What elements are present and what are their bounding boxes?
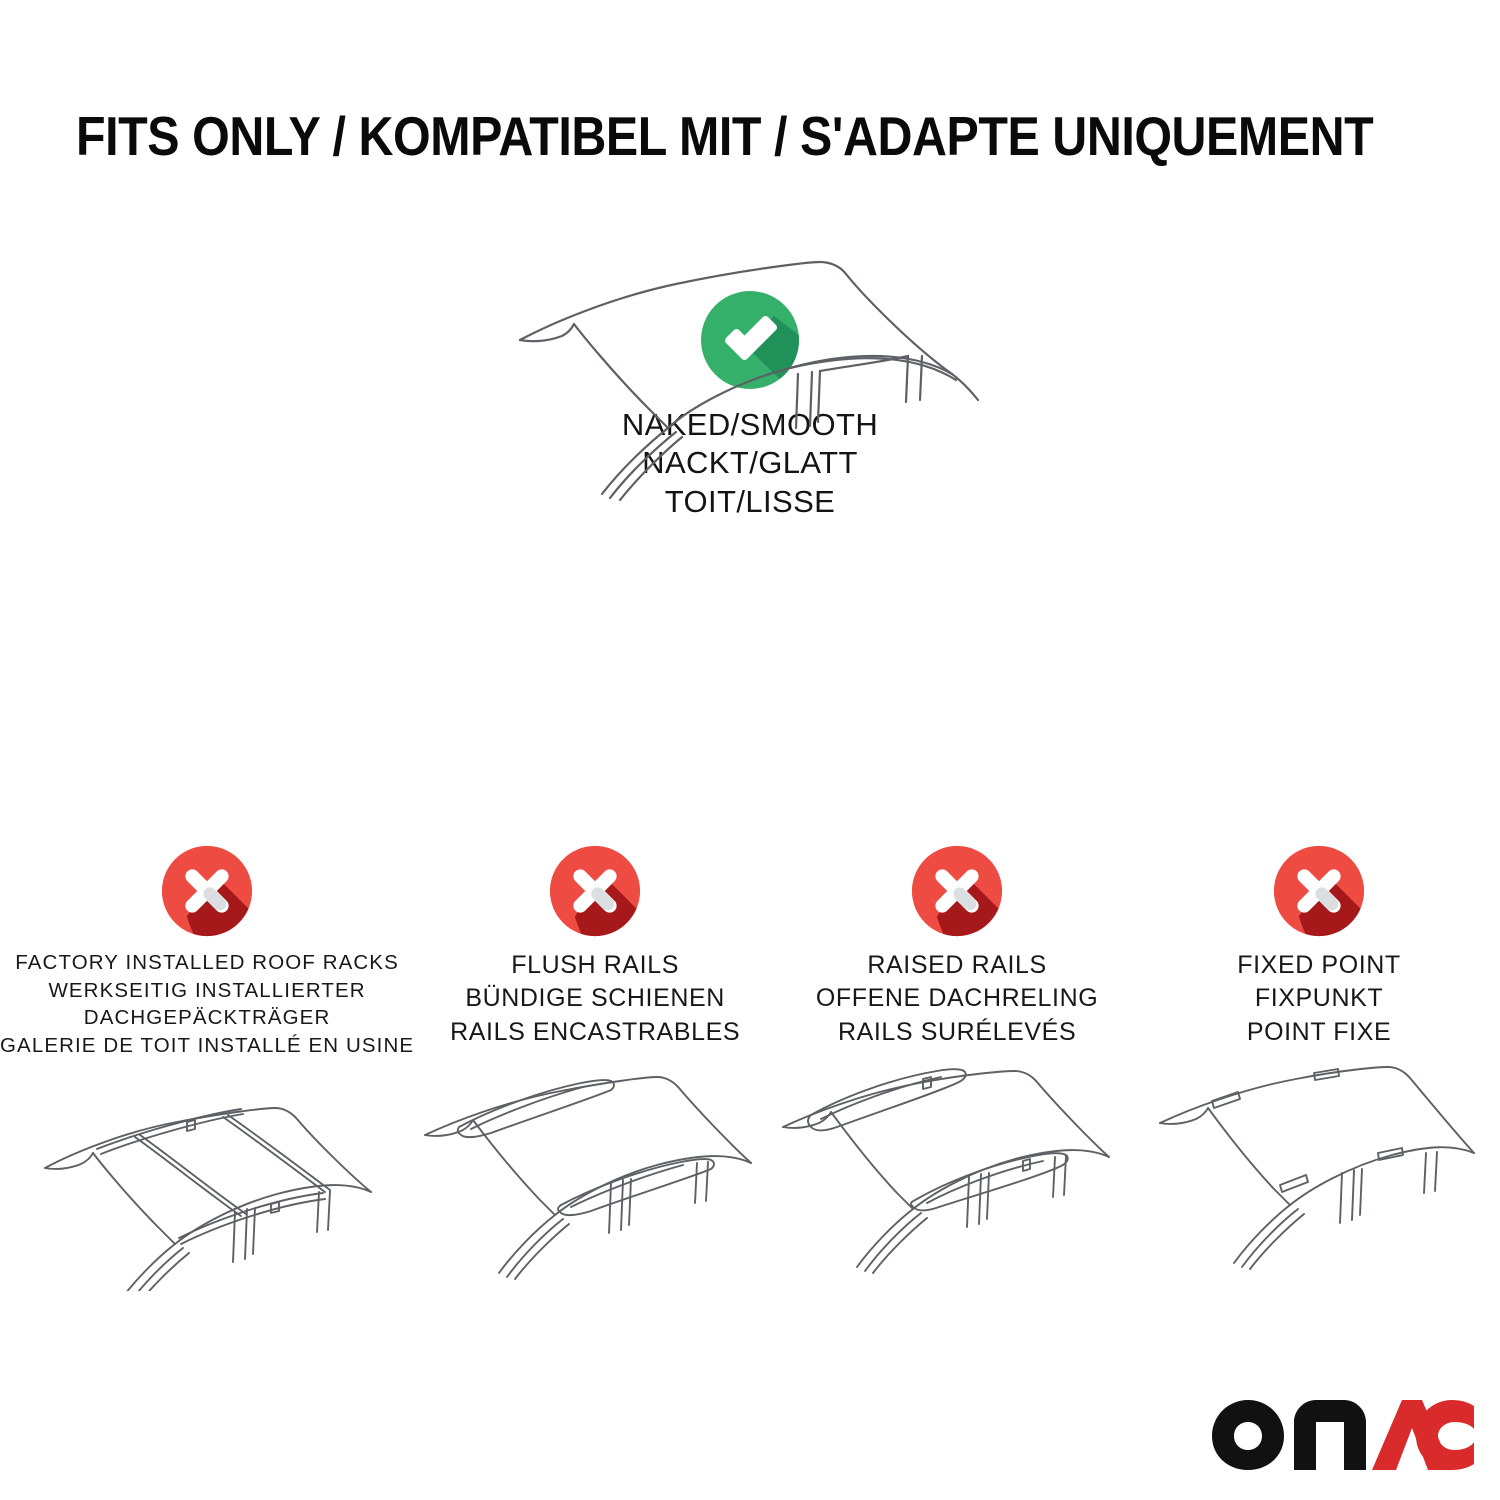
car-roof-fixed-point-illustration [1138,1065,1500,1295]
page-title: FITS ONLY / KOMPATIBEL MIT / S'ADAPTE UN… [76,108,1373,166]
incompatible-section: FACTORY INSTALLED ROOF RACKS WERKSEITIG … [0,845,1500,1306]
x-circle-icon [161,845,253,937]
logo-letter-m [1294,1400,1366,1470]
incompatible-labels: FIXED POINT FIXPUNKT POINT FIXE [1138,949,1500,1049]
omac-logo [1210,1398,1476,1472]
label-en: FLUSH RAILS [414,949,776,982]
label-de: BÜNDIGE SCHIENEN [414,982,776,1015]
car-roof-raised-rails-illustration [776,1065,1138,1295]
label-en: FACTORY INSTALLED ROOF RACKS [0,949,414,977]
car-roof-flush-rails-illustration [414,1065,776,1295]
incompatible-labels: FACTORY INSTALLED ROOF RACKS WERKSEITIG … [0,949,414,1060]
label-de-line2: DACHGEPÄCKTRÄGER [0,1004,414,1032]
car-roof-naked-smooth-illustration [0,232,1500,512]
label-fr: GALERIE DE TOIT INSTALLÉ EN USINE [0,1032,414,1060]
label-en: RAISED RAILS [776,949,1138,982]
label-fr: POINT FIXE [1138,1016,1500,1049]
label-fr: RAILS ENCASTRABLES [414,1016,776,1049]
label-fr: RAILS SURÉLEVÉS [776,1016,1138,1049]
incompatible-labels: RAISED RAILS OFFENE DACHRELING RAILS SUR… [776,949,1138,1049]
x-circle-icon [1273,845,1365,937]
label-de: FIXPUNKT [1138,982,1500,1015]
incompatible-item-factory-installed-roof-racks: FACTORY INSTALLED ROOF RACKS WERKSEITIG … [0,845,414,1306]
incompatible-item-fixed-point: FIXED POINT FIXPUNKT POINT FIXE [1138,845,1500,1295]
x-circle-icon [549,845,641,937]
label-en: FIXED POINT [1138,949,1500,982]
incompatible-item-raised-rails: RAISED RAILS OFFENE DACHRELING RAILS SUR… [776,845,1138,1295]
label-de: OFFENE DACHRELING [776,982,1138,1015]
incompatible-labels: FLUSH RAILS BÜNDIGE SCHIENEN RAILS ENCAS… [414,949,776,1049]
x-circle-icon [911,845,1003,937]
incompatible-item-flush-rails: FLUSH RAILS BÜNDIGE SCHIENEN RAILS ENCAS… [414,845,776,1295]
label-de-line1: WERKSEITIG INSTALLIERTER [0,977,414,1005]
car-roof-factory-rack-illustration [0,1076,414,1306]
logo-letter-o [1212,1400,1284,1470]
